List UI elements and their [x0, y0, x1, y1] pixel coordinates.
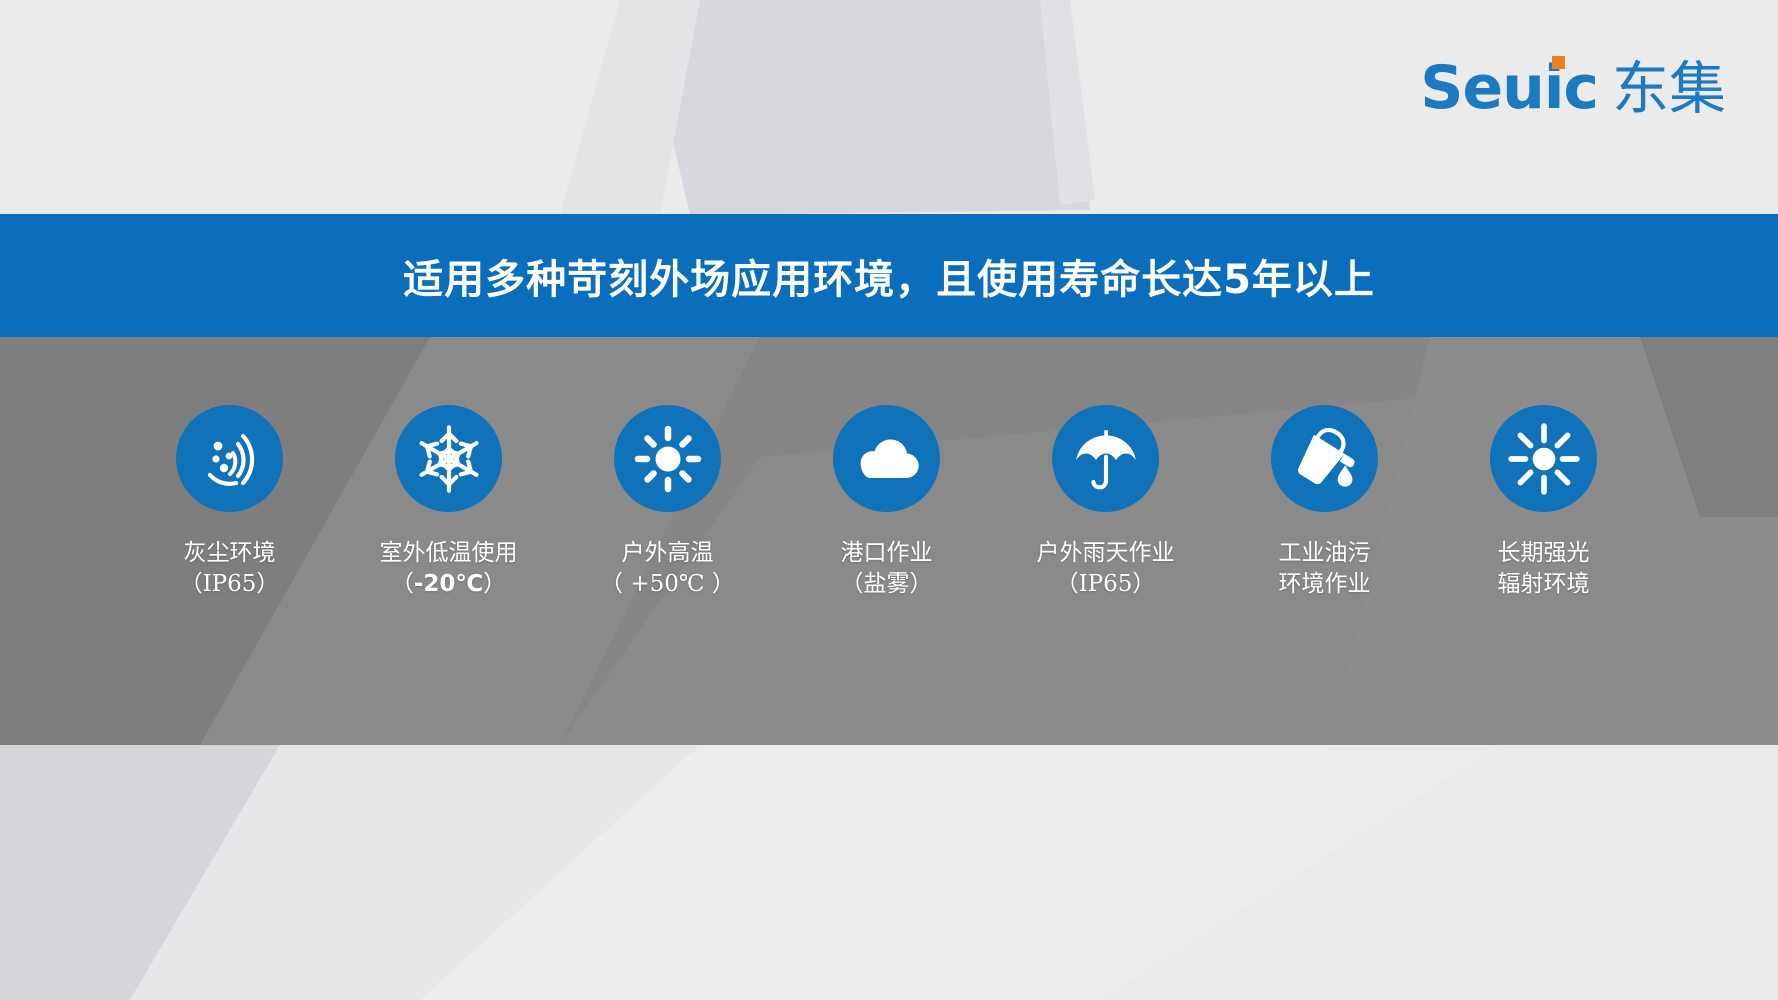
- headline-text: 适用多种苛刻外场应用环境，且使用寿命长达5年以上: [403, 247, 1375, 305]
- caption-temperature-value: -20℃: [414, 571, 483, 597]
- logo-wordmark-text: Seuic: [1420, 53, 1598, 123]
- feature-caption: 室外低温使用（-20℃）: [380, 538, 518, 600]
- feature-caption: 户外高温 （ +50℃ ）: [600, 538, 735, 600]
- snowflake-icon: [411, 421, 487, 497]
- feature-item-low-temperature[interactable]: 室外低温使用（-20℃）: [339, 337, 558, 600]
- header: Seuic 东集: [0, 0, 1778, 214]
- bright-sun-icon-circle: [1490, 405, 1597, 512]
- cloud-icon-circle: [833, 405, 940, 512]
- feature-item-strong-light[interactable]: 长期强光 辐射环境: [1434, 337, 1653, 600]
- feature-caption: 户外雨天作业 （IP65）: [1037, 538, 1175, 600]
- sun-icon: [632, 423, 704, 495]
- feature-item-rain[interactable]: 户外雨天作业 （IP65）: [996, 337, 1215, 600]
- feature-item-dust[interactable]: 灰尘环境 （IP65）: [120, 337, 339, 600]
- umbrella-icon: [1069, 422, 1143, 496]
- feature-caption: 灰尘环境 （IP65）: [180, 538, 280, 600]
- caption-line-1: 室外低温使用: [380, 540, 518, 566]
- cloud-icon: [849, 421, 925, 497]
- umbrella-icon-circle: [1052, 405, 1159, 512]
- bright-sun-icon: [1507, 422, 1581, 496]
- dust-icon-circle: [176, 405, 283, 512]
- logo-orange-dot-icon: [1552, 56, 1565, 69]
- dust-icon: [194, 423, 266, 495]
- feature-caption: 工业油污 环境作业: [1279, 538, 1371, 600]
- oil-bucket-icon-circle: [1271, 405, 1378, 512]
- snowflake-icon-circle: [395, 405, 502, 512]
- oil-bucket-icon: [1287, 421, 1363, 497]
- feature-item-high-temperature[interactable]: 户外高温 （ +50℃ ）: [558, 337, 777, 600]
- feature-item-port-salt-spray[interactable]: 港口作业 （盐雾）: [777, 337, 996, 600]
- slide-root: Seuic 东集 适用多种苛刻外场应用环境，且使用寿命长达5年以上: [0, 0, 1778, 1000]
- logo-chinese-name: 东集: [1612, 61, 1726, 118]
- feature-band: 灰尘环境 （IP65）: [0, 337, 1778, 745]
- feature-caption: 港口作业 （盐雾）: [841, 538, 933, 600]
- logo-wordmark: Seuic: [1420, 58, 1598, 118]
- sun-icon-circle: [614, 405, 721, 512]
- brand-logo: Seuic 东集: [1420, 58, 1726, 118]
- feature-list: 灰尘环境 （IP65）: [0, 337, 1778, 745]
- caption-paren-close: ）: [483, 571, 506, 597]
- headline-banner: 适用多种苛刻外场应用环境，且使用寿命长达5年以上: [0, 214, 1778, 337]
- feature-caption: 长期强光 辐射环境: [1498, 538, 1590, 600]
- caption-paren-open: （: [391, 571, 414, 597]
- feature-item-industrial-oil[interactable]: 工业油污 环境作业: [1215, 337, 1434, 600]
